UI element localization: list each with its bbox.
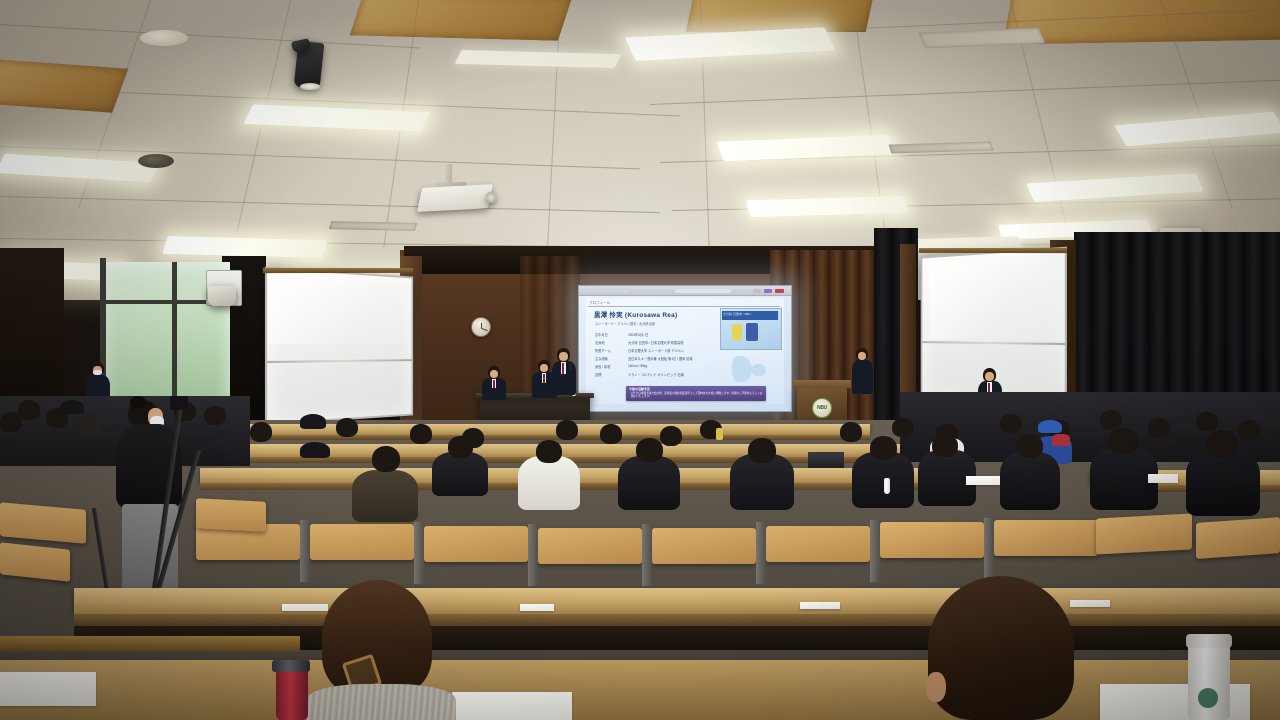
handout-paper xyxy=(452,692,572,720)
ceiling-wood-panel-a xyxy=(350,0,573,41)
audience-head xyxy=(660,426,682,446)
audience-head xyxy=(556,420,578,440)
audience-head-cap xyxy=(60,400,84,414)
seat-post xyxy=(300,520,310,582)
camera-head xyxy=(170,396,188,410)
slide-badge: プロフィール xyxy=(589,300,610,305)
seat-post xyxy=(756,522,766,584)
handout-paper xyxy=(520,604,554,611)
handout-paper xyxy=(1148,474,1178,483)
face xyxy=(540,364,548,372)
slide-row-key: 所属チーム xyxy=(595,348,611,353)
camera-lens-ring-icon xyxy=(300,83,320,90)
desk-front-left-edge xyxy=(0,636,300,652)
bench-seat-back xyxy=(652,528,756,564)
slide-row-value: 日本文理大学 スノーボード部 アルペン xyxy=(628,348,684,353)
audience-head xyxy=(78,414,100,434)
slide-title: 黒澤 怜実 (Kurosawa Rea) xyxy=(594,310,677,319)
audience-head-cap xyxy=(300,442,330,458)
ceiling-wood-panel-b xyxy=(686,0,875,32)
face xyxy=(858,352,866,360)
audience-jacket-dark xyxy=(1186,450,1260,516)
projector-lens-icon xyxy=(486,192,496,203)
presentation-slide: プロフィール 黒澤 怜実 (Kurosawa Rea) スノーボード・アルペン選… xyxy=(586,298,784,404)
bench-seat-back xyxy=(880,522,984,558)
audience-head xyxy=(1206,430,1238,458)
ceiling-wood-panel-c xyxy=(0,59,128,113)
audience-head xyxy=(1100,410,1122,429)
ceiling-projector xyxy=(417,184,493,212)
handout-paper xyxy=(966,476,1000,485)
wall-clock xyxy=(471,317,491,337)
slide-row-value: 2003年4月○日 xyxy=(628,332,648,337)
wall-speaker-left xyxy=(208,286,236,306)
ceiling-smoke-detector-icon xyxy=(138,154,174,168)
audience-head xyxy=(1016,434,1043,458)
ceiling-wood-panel-d xyxy=(1003,0,1280,45)
bench-seat-back-right xyxy=(1196,517,1280,559)
bench-seat-back xyxy=(424,526,528,562)
audience-head xyxy=(448,436,473,458)
bench-seat-back xyxy=(310,524,414,560)
microphone-icon xyxy=(569,362,572,370)
window-close-icon xyxy=(775,289,784,293)
audience-jacket-dark xyxy=(1000,452,1060,510)
desk-row-front-edge xyxy=(74,614,1280,626)
slide-photo-person-b xyxy=(746,323,758,341)
white-tumbler-lid xyxy=(1186,634,1232,648)
podium-emblem: NBU xyxy=(812,398,832,418)
projection-screen: プロフィール 黒澤 怜実 (Kurosawa Rea) スノーボード・アルペン選… xyxy=(578,285,792,412)
audience-head xyxy=(870,436,897,460)
slide-map-graphic xyxy=(732,356,752,382)
seat-post xyxy=(528,524,538,586)
audience-head-cap-blue xyxy=(1038,420,1062,433)
slide-row-value: ミラノ・コルティナ オリンピック 出場 xyxy=(628,372,684,377)
knit-sweater xyxy=(306,684,456,720)
red-tumbler xyxy=(276,668,308,720)
red-tumbler-lid xyxy=(272,660,310,672)
slide-row-value: 全日本スキー選手権 大回転 第1位 / 国体 出場 xyxy=(628,356,692,361)
handout-paper xyxy=(0,672,96,706)
slide-photo-caption: 大分県 日田市 / NBU xyxy=(723,312,751,316)
audience-head xyxy=(748,438,776,463)
whiteboard-left-frame-top xyxy=(263,268,413,273)
necktie xyxy=(543,374,545,383)
handout-paper xyxy=(282,604,328,611)
slide-row-key: 身長 / 体重 xyxy=(595,364,610,369)
slide-map-graphic xyxy=(752,364,766,376)
audience-head xyxy=(250,422,272,442)
window-maximize-icon xyxy=(764,289,772,293)
bench-seat-back xyxy=(766,526,870,562)
browser-tab-icon xyxy=(583,289,627,293)
necktie xyxy=(493,380,495,388)
seat-post xyxy=(984,518,994,580)
ceiling-smoke-detector-icon xyxy=(140,30,188,46)
handout-paper xyxy=(1070,600,1110,607)
audience-head xyxy=(372,446,400,472)
water-bottle xyxy=(884,478,890,494)
audience-jacket-dark xyxy=(852,452,914,508)
suit-torso xyxy=(852,360,873,394)
audience-head xyxy=(336,418,358,437)
slide-subtitle: スノーボード・アルペン選手 / 大分県出身 xyxy=(595,321,655,326)
audience-head xyxy=(1108,428,1138,454)
clock-hand-minute xyxy=(481,328,487,331)
audience-head xyxy=(892,418,914,437)
slide-divider xyxy=(588,306,780,307)
audience-head xyxy=(932,434,958,457)
seat-post xyxy=(870,520,880,582)
bench-seat-back xyxy=(994,520,1098,556)
hair-bun-knot xyxy=(130,396,146,408)
podium-top xyxy=(793,380,851,388)
whiteboard-tray-line xyxy=(922,341,1064,345)
slide-row-key: 出身地 xyxy=(595,340,605,345)
audience-head xyxy=(1196,412,1218,431)
audience-head xyxy=(1148,418,1170,438)
hair xyxy=(928,576,1074,720)
desk-row-bottom xyxy=(0,660,1280,720)
slide-row-value: 大分県 日田市 / 日本文理大学 附属高校 xyxy=(628,340,683,345)
seat-post xyxy=(414,522,424,584)
whiteboard-left xyxy=(265,267,413,426)
slide-callout-body: 2月 全日本選手権大会出場、来年度の強化指定選手として国内外の大会に挑戦します。… xyxy=(631,392,763,398)
desk-item-laptop xyxy=(808,452,844,468)
audience-jacket-white xyxy=(518,456,580,510)
podium-emblem-label: NBU xyxy=(817,405,827,411)
lecture-hall-photo: プロフィール 黒澤 怜実 (Kurosawa Rea) スノーボード・アルペン選… xyxy=(0,0,1280,720)
audience-head xyxy=(204,406,226,425)
audience-head xyxy=(410,424,432,444)
face xyxy=(985,372,994,381)
audience-head xyxy=(0,412,22,432)
slide-row-key: 目標 xyxy=(595,372,601,377)
audience-head-cap xyxy=(300,414,326,429)
browser-addressbar-icon xyxy=(675,289,731,293)
whiteboard-glare xyxy=(929,253,1063,340)
audience-head xyxy=(600,424,622,444)
slide-callout-heading: 今後の活動予定 xyxy=(629,387,650,391)
necktie xyxy=(562,363,564,374)
handout-paper xyxy=(800,602,840,609)
whiteboard-glare xyxy=(267,269,411,344)
slide-photo-person-a xyxy=(732,324,742,340)
audience-head xyxy=(1000,414,1022,433)
bench-seat-back-right xyxy=(1096,513,1192,554)
window-minimize-icon xyxy=(753,289,761,293)
audience-head xyxy=(1238,420,1260,440)
audience-head xyxy=(18,400,40,420)
ear xyxy=(926,672,946,702)
face xyxy=(490,370,498,378)
seat-post xyxy=(642,524,652,586)
whiteboard-tray-line xyxy=(267,359,411,363)
desk-item-cup xyxy=(716,428,723,440)
audience-jacket-olive xyxy=(352,470,418,522)
audience-jacket-red-accent xyxy=(1052,434,1070,446)
bench-seat-back xyxy=(538,528,642,564)
white-tumbler xyxy=(1188,642,1230,720)
whiteboard-right-frame-top xyxy=(919,248,1067,253)
audience-head xyxy=(636,438,663,462)
audience-head xyxy=(840,422,862,442)
audience-jacket-dark xyxy=(432,452,488,496)
slide-row-value: 160cm / 55kg xyxy=(628,364,647,368)
slide-row-key: 主な成績 xyxy=(595,356,608,361)
audience-jacket-dark xyxy=(618,456,680,510)
slide-row-key: 生年月日 xyxy=(595,332,608,337)
bench-seat-back-left xyxy=(196,498,266,532)
starbucks-logo-icon xyxy=(1198,688,1218,708)
window-mullion-vertical xyxy=(172,262,177,412)
audience-head xyxy=(536,440,562,463)
face xyxy=(559,352,568,361)
